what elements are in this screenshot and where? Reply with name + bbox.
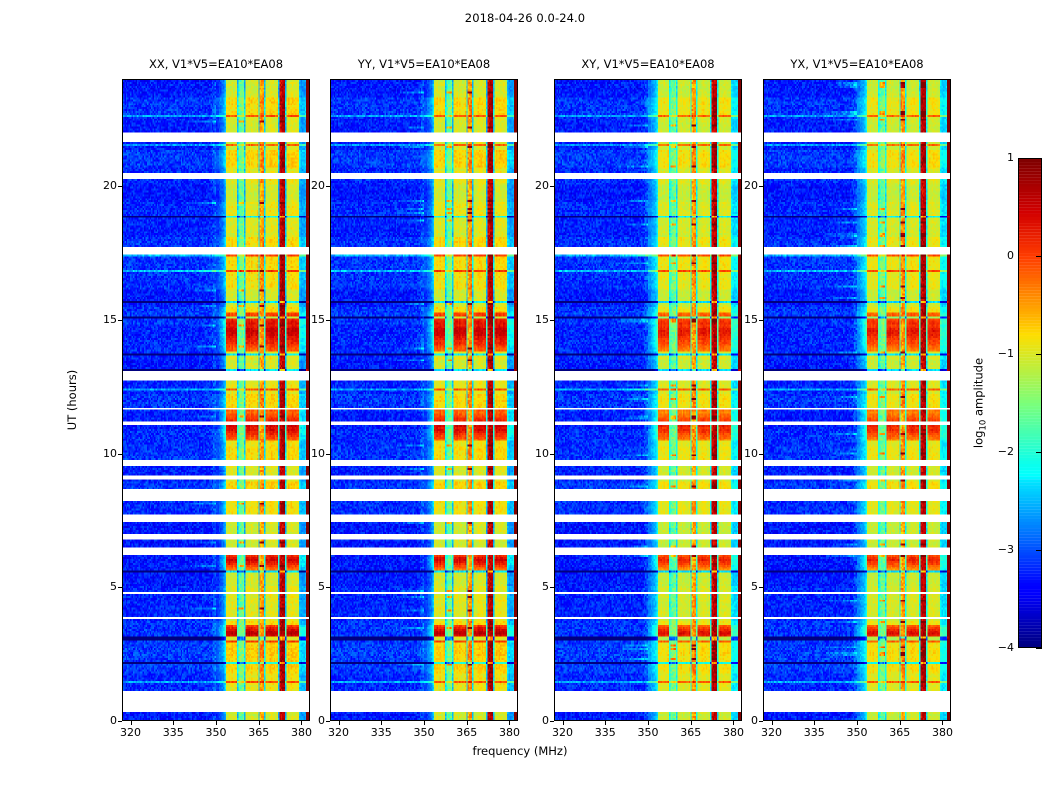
y-tick-mark: [118, 186, 122, 187]
y-tick-label: 15: [91, 314, 117, 326]
x-tick-label: 350: [837, 726, 877, 739]
y-tick-label: 0: [732, 715, 758, 727]
x-tick-mark: [605, 721, 606, 725]
y-tick-mark: [759, 721, 763, 722]
waterfall-panel-xx[interactable]: [122, 79, 310, 721]
y-tick-label: 20: [523, 180, 549, 192]
x-tick-label: 350: [196, 726, 236, 739]
y-tick-mark: [326, 186, 330, 187]
x-tick-label: 350: [404, 726, 444, 739]
x-tick-label: 320: [543, 726, 583, 739]
x-tick-label: 380: [489, 726, 529, 739]
x-tick-label: 320: [111, 726, 151, 739]
x-tick-label: 320: [319, 726, 359, 739]
x-tick-label: 365: [880, 726, 920, 739]
y-tick-label: 20: [732, 180, 758, 192]
x-tick-mark: [339, 721, 340, 725]
x-tick-label: 350: [628, 726, 668, 739]
y-tick-mark: [326, 454, 330, 455]
colorbar-tick-mark: [1036, 354, 1042, 355]
colorbar-tick-mark: [1036, 158, 1042, 159]
y-tick-label: 20: [299, 180, 325, 192]
x-tick-label: 380: [281, 726, 321, 739]
y-tick-label: 15: [299, 314, 325, 326]
x-tick-mark: [509, 721, 510, 725]
y-tick-mark: [326, 587, 330, 588]
x-tick-mark: [691, 721, 692, 725]
y-tick-mark: [118, 454, 122, 455]
y-tick-label: 15: [523, 314, 549, 326]
x-tick-mark: [131, 721, 132, 725]
y-tick-label: 0: [523, 715, 549, 727]
y-tick-mark: [118, 721, 122, 722]
y-tick-mark: [759, 320, 763, 321]
y-tick-label: 20: [91, 180, 117, 192]
y-tick-mark: [118, 320, 122, 321]
y-tick-mark: [759, 587, 763, 588]
y-tick-label: 15: [732, 314, 758, 326]
colorbar-tick-label: −1: [990, 348, 1014, 360]
colorbar[interactable]: [1018, 158, 1042, 648]
x-tick-mark: [381, 721, 382, 725]
y-tick-label: 5: [523, 581, 549, 593]
waterfall-panel-yx[interactable]: [763, 79, 951, 721]
x-tick-label: 320: [752, 726, 792, 739]
colorbar-tick-label: −4: [990, 642, 1014, 654]
x-tick-label: 380: [922, 726, 962, 739]
y-tick-label: 10: [732, 448, 758, 460]
y-tick-label: 5: [732, 581, 758, 593]
waterfall-image-xx: [123, 80, 309, 720]
y-tick-label: 5: [91, 581, 117, 593]
colorbar-tick-mark: [1036, 256, 1042, 257]
x-tick-mark: [173, 721, 174, 725]
y-tick-mark: [118, 587, 122, 588]
x-tick-mark: [942, 721, 943, 725]
colorbar-tick-label: −2: [990, 446, 1014, 458]
y-tick-mark: [550, 454, 554, 455]
waterfall-image-xy: [555, 80, 741, 720]
y-tick-mark: [326, 320, 330, 321]
y-tick-mark: [759, 454, 763, 455]
y-tick-mark: [550, 186, 554, 187]
waterfall-panel-xy[interactable]: [554, 79, 742, 721]
x-tick-mark: [424, 721, 425, 725]
colorbar-tick-mark: [1036, 648, 1042, 649]
y-tick-mark: [550, 721, 554, 722]
figure-canvas: 2018-04-26 0.0-24.0 XX, V1*V5=EA10*EA08 …: [0, 0, 1050, 800]
y-tick-label: 0: [91, 715, 117, 727]
x-tick-mark: [857, 721, 858, 725]
panel-title-xx: XX, V1*V5=EA10*EA08: [122, 57, 310, 71]
x-tick-label: 365: [447, 726, 487, 739]
panel-title-xy: XY, V1*V5=EA10*EA08: [554, 57, 742, 71]
colorbar-label: log10 amplitude: [971, 358, 988, 448]
x-tick-label: 365: [239, 726, 279, 739]
y-tick-mark: [550, 320, 554, 321]
waterfall-image-yy: [331, 80, 517, 720]
x-tick-label: 380: [713, 726, 753, 739]
waterfall-image-yx: [764, 80, 950, 720]
figure-suptitle: 2018-04-26 0.0-24.0: [0, 11, 1050, 25]
x-tick-mark: [648, 721, 649, 725]
colorbar-tick-label: −3: [990, 544, 1014, 556]
colorbar-tick-label: 1: [990, 152, 1014, 164]
x-tick-mark: [216, 721, 217, 725]
y-tick-label: 10: [299, 448, 325, 460]
x-tick-mark: [467, 721, 468, 725]
x-axis-label: frequency (MHz): [330, 744, 710, 758]
colorbar-tick-mark: [1036, 550, 1042, 551]
x-tick-mark: [259, 721, 260, 725]
x-tick-label: 335: [361, 726, 401, 739]
x-tick-mark: [900, 721, 901, 725]
x-tick-mark: [772, 721, 773, 725]
x-tick-mark: [563, 721, 564, 725]
x-tick-label: 365: [671, 726, 711, 739]
panel-title-yx: YX, V1*V5=EA10*EA08: [763, 57, 951, 71]
y-tick-mark: [326, 721, 330, 722]
y-tick-label: 5: [299, 581, 325, 593]
waterfall-panel-yy[interactable]: [330, 79, 518, 721]
colorbar-tick-label: 0: [990, 250, 1014, 262]
x-tick-label: 335: [153, 726, 193, 739]
panel-title-yy: YY, V1*V5=EA10*EA08: [330, 57, 518, 71]
y-tick-label: 10: [523, 448, 549, 460]
y-tick-mark: [550, 587, 554, 588]
x-tick-label: 335: [794, 726, 834, 739]
y-tick-label: 0: [299, 715, 325, 727]
y-tick-mark: [759, 186, 763, 187]
x-tick-mark: [814, 721, 815, 725]
colorbar-tick-mark: [1036, 452, 1042, 453]
y-axis-label: UT (hours): [65, 370, 79, 430]
y-tick-label: 10: [91, 448, 117, 460]
x-tick-label: 335: [585, 726, 625, 739]
